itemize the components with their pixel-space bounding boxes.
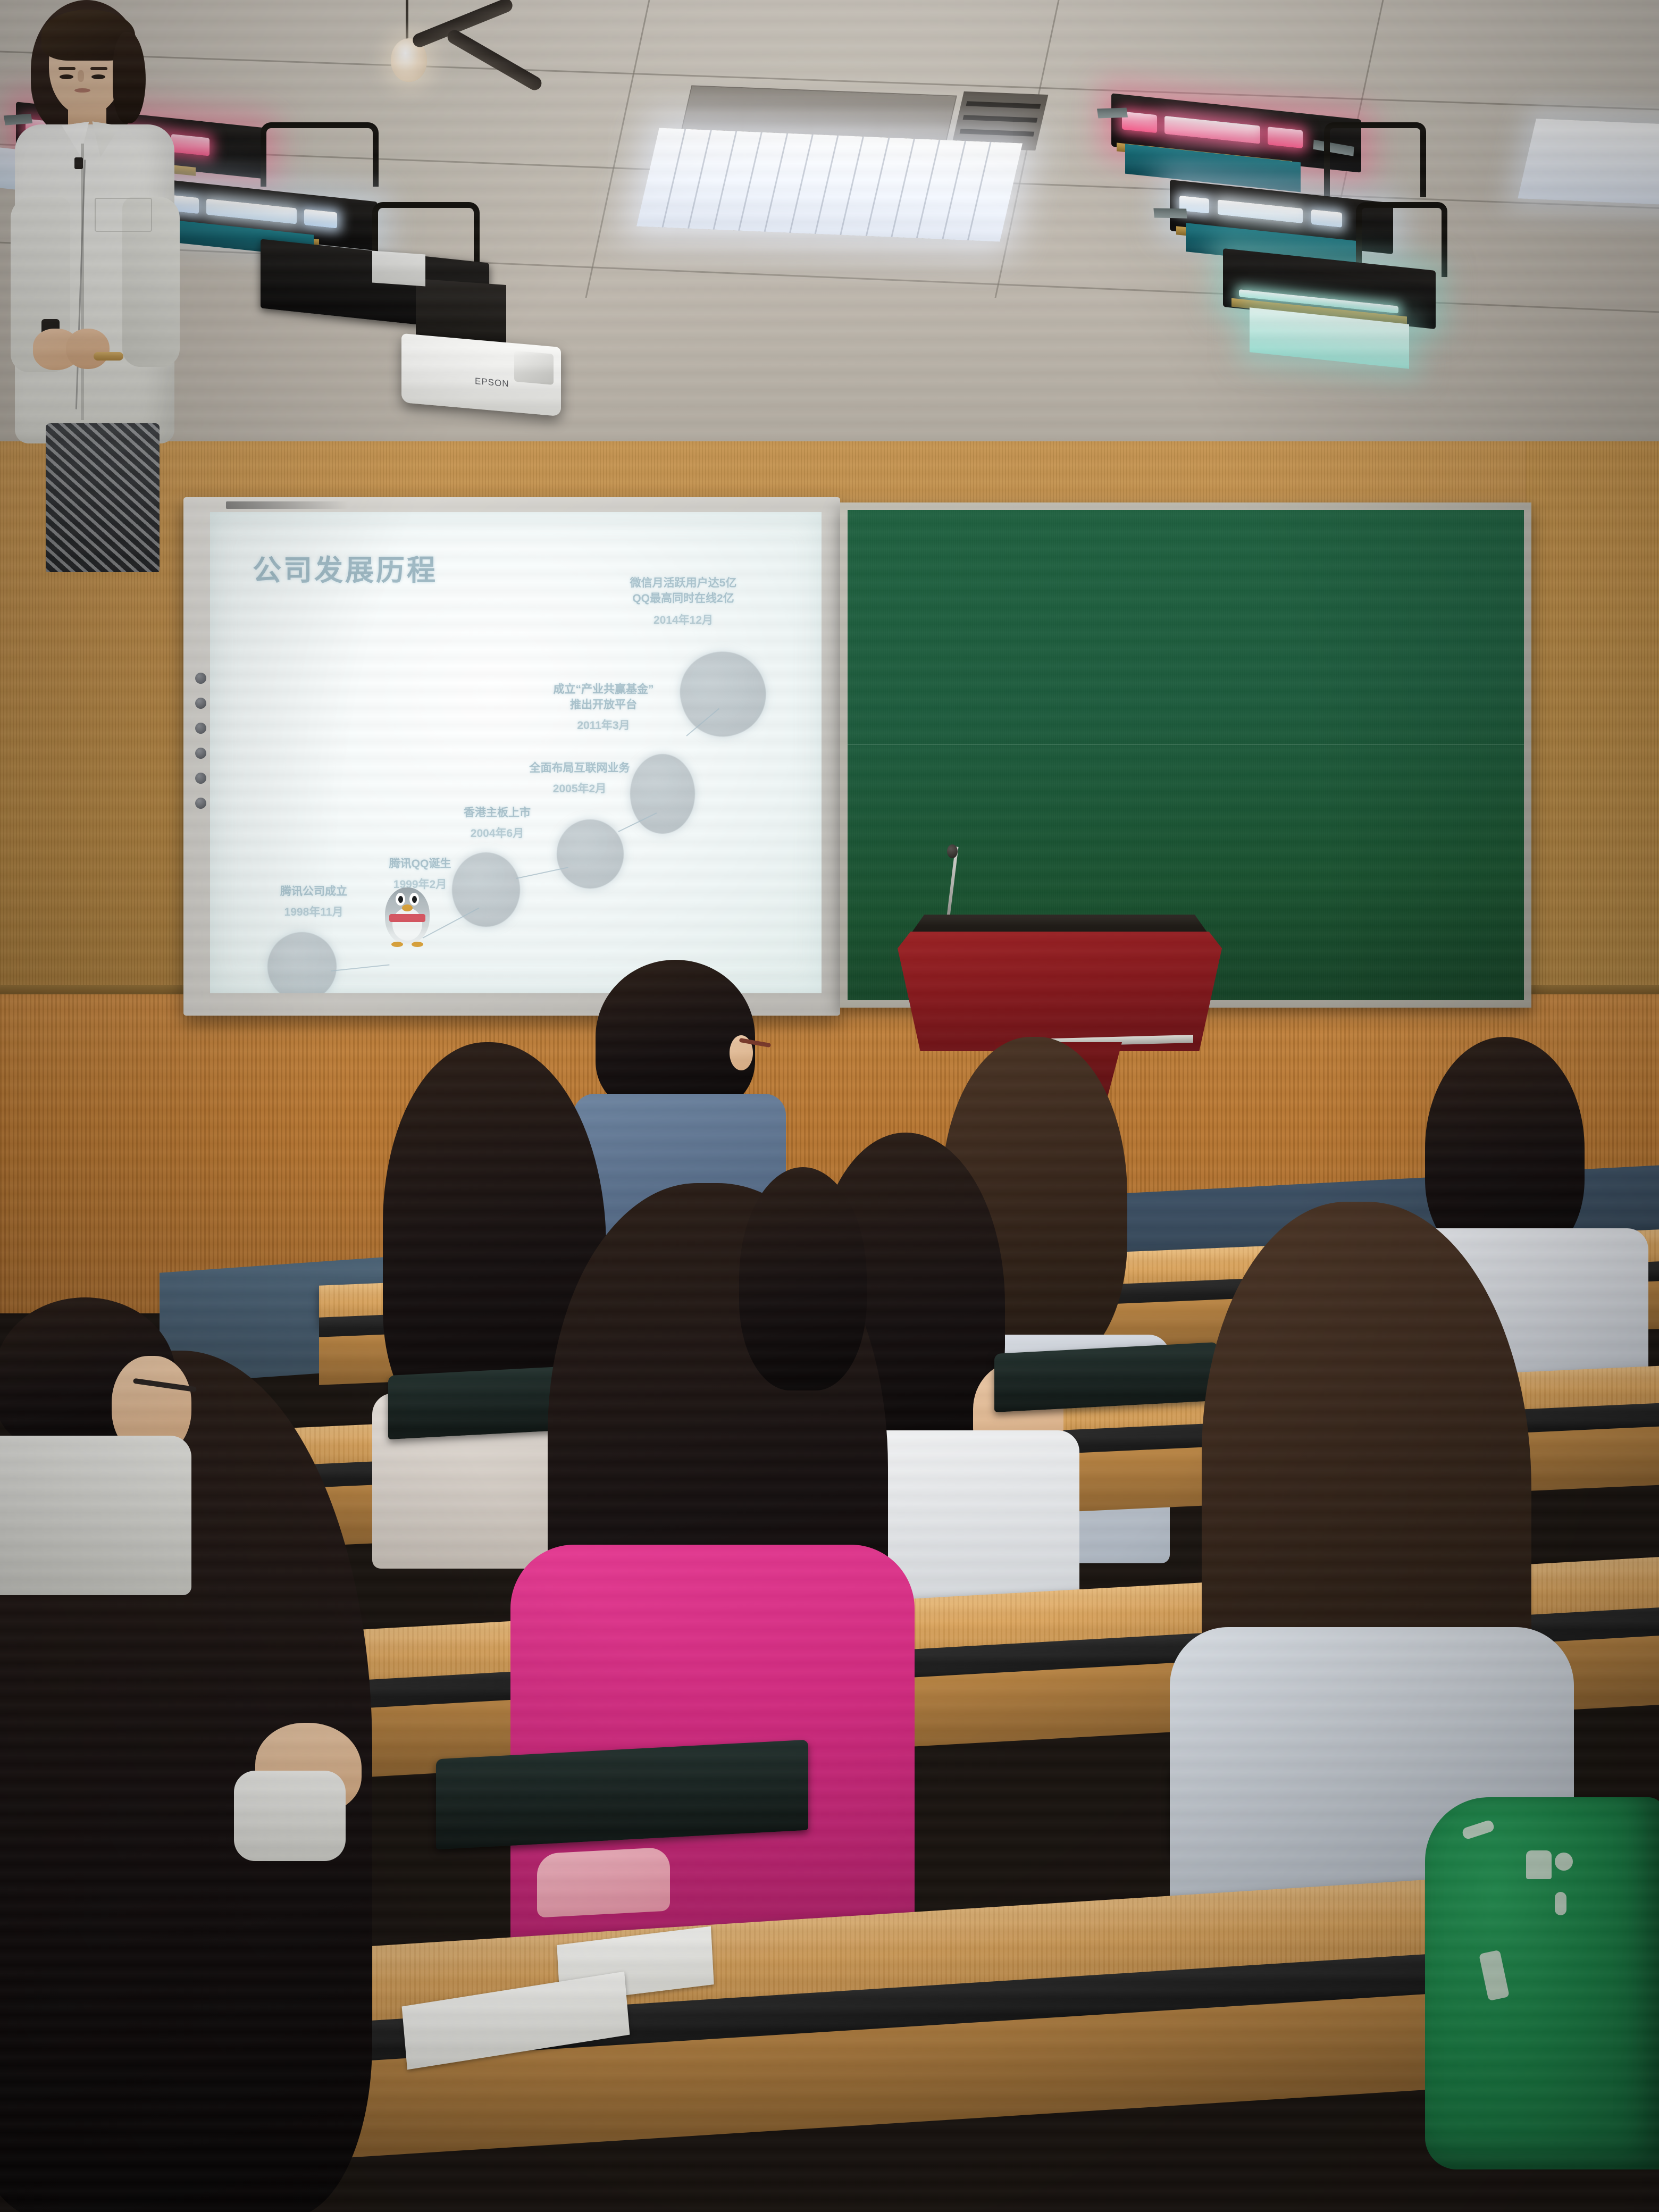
student-torso <box>0 1436 191 1595</box>
timeline-node-1-line1: 腾讯公司成立 <box>247 884 380 900</box>
whiteboard-button-strip[interactable] <box>195 673 211 806</box>
lapel-microphone-icon <box>74 157 83 169</box>
pendant-lamp-cord <box>406 0 408 43</box>
interactive-whiteboard[interactable]: 公司发展历程 微信月活跃用户达5亿 QQ最高同时在线2亿 2014年12月 成立… <box>183 497 840 1016</box>
projected-slide: 公司发展历程 微信月活跃用户达5亿 QQ最高同时在线2亿 2014年12月 成立… <box>210 512 822 993</box>
stage-light-rig-right <box>1095 90 1563 367</box>
timeline-node-5-line1: 成立“产业共赢基金” <box>513 682 694 698</box>
whiteboard-brand-label <box>226 501 348 509</box>
timeline-connector <box>516 867 568 879</box>
timeline-node-5-line2: 推出开放平台 <box>513 698 694 713</box>
presenter-skirt <box>46 423 160 572</box>
microphone-head-icon <box>947 844 958 858</box>
wall-right-wood-panel <box>1526 441 1659 1053</box>
projector-lens <box>514 350 554 384</box>
presenter-mouth <box>74 88 90 93</box>
timeline-node-4-line1: 全面布局互联网业务 <box>492 761 667 776</box>
timeline-node-4-photo <box>557 819 624 889</box>
green-cloth-bag[interactable] <box>1425 1797 1659 2169</box>
timeline-node-1-photo <box>267 932 337 993</box>
timeline-node-1-label: 腾讯公司成立 1998年11月 <box>247 884 380 920</box>
recessed-fluorescent-panel <box>636 128 1023 242</box>
timeline-node-2-line1: 腾讯QQ诞生 <box>359 857 481 872</box>
podium[interactable] <box>898 932 1222 1051</box>
presenter-right-hand <box>66 329 110 369</box>
whiteboard-button[interactable] <box>195 698 206 709</box>
pink-pencil-pouch[interactable] <box>537 1847 670 1917</box>
timeline-node-6-label: 微信月活跃用户达5亿 QQ最高同时在线2亿 2014年12月 <box>582 576 784 629</box>
timeline-node-5-label: 成立“产业共赢基金” 推出开放平台 2011年3月 <box>513 682 694 734</box>
presenter-shirt-pocket <box>95 198 152 232</box>
timeline-node-6-line1: 微信月活跃用户达5亿 <box>582 576 784 591</box>
whiteboard-button[interactable] <box>195 673 206 684</box>
classroom-photo: EPSON <box>0 0 1659 2212</box>
presenter-nose <box>78 70 84 82</box>
timeline-node-4-date: 2005年2月 <box>492 782 667 797</box>
timeline-node-5-date: 2011年3月 <box>513 718 694 734</box>
whiteboard-button[interactable] <box>195 798 206 809</box>
timeline-node-6-date: 2014年12月 <box>582 613 784 629</box>
student-sleeve <box>234 1771 346 1861</box>
timeline-connector <box>331 965 390 971</box>
presenter-hair-side <box>113 32 146 123</box>
timeline-node-4-label: 全面布局互联网业务 2005年2月 <box>492 761 667 797</box>
timeline-node-3-line1: 香港主板上市 <box>428 806 566 821</box>
whiteboard-button[interactable] <box>195 723 206 734</box>
slide-title: 公司发展历程 <box>253 547 438 589</box>
projector: EPSON <box>401 333 561 416</box>
whiteboard-button[interactable] <box>195 748 206 759</box>
timeline-node-1-date: 1998年11月 <box>247 905 380 920</box>
timeline-node-6-line2: QQ最高同时在线2亿 <box>582 591 784 607</box>
projector-ceiling-plate <box>372 251 425 287</box>
whiteboard-button[interactable] <box>195 773 206 784</box>
projector-brand-label: EPSON <box>475 376 509 390</box>
chair-back[interactable] <box>994 1342 1218 1412</box>
timeline-node-3-label: 香港主板上市 2004年6月 <box>428 806 566 842</box>
presenter-bracelet <box>94 352 123 361</box>
timeline-node-3-date: 2004年6月 <box>428 826 566 842</box>
